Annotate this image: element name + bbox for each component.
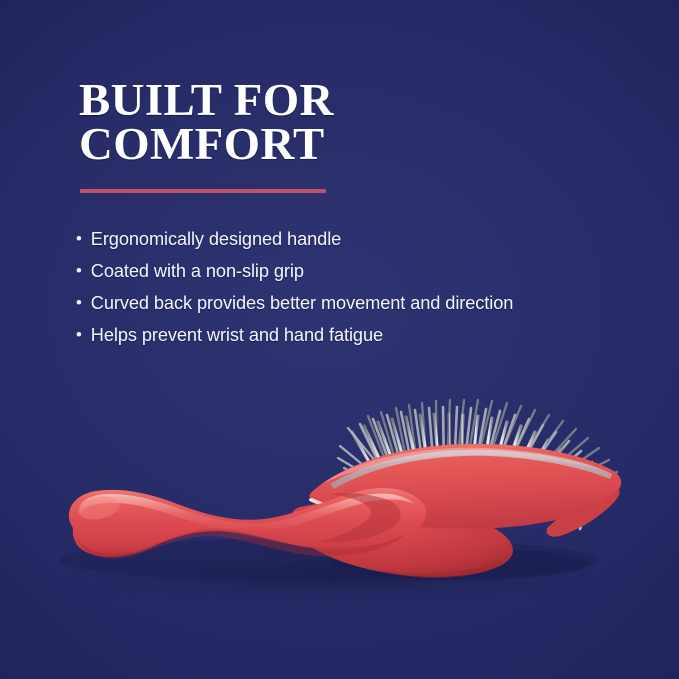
page-title: BUILT FOR COMFORT: [79, 78, 526, 166]
page-title-line-1: BUILT FOR: [79, 78, 526, 122]
list-item: Curved back provides better movement and…: [76, 292, 519, 314]
list-item: Coated with a non-slip grip: [76, 260, 519, 282]
feature-list: Ergonomically designed handle Coated wit…: [76, 228, 526, 356]
page-title-line-2: COMFORT: [79, 122, 526, 166]
text-block: BUILT FOR COMFORT: [79, 78, 509, 166]
product-image-slicker-brush: [0, 372, 679, 632]
list-item: Ergonomically designed handle: [76, 228, 519, 250]
product-feature-card: BUILT FOR COMFORT Ergonomically designed…: [0, 0, 679, 679]
list-item: Helps prevent wrist and hand fatigue: [76, 324, 519, 346]
title-divider-rule: [80, 189, 326, 193]
